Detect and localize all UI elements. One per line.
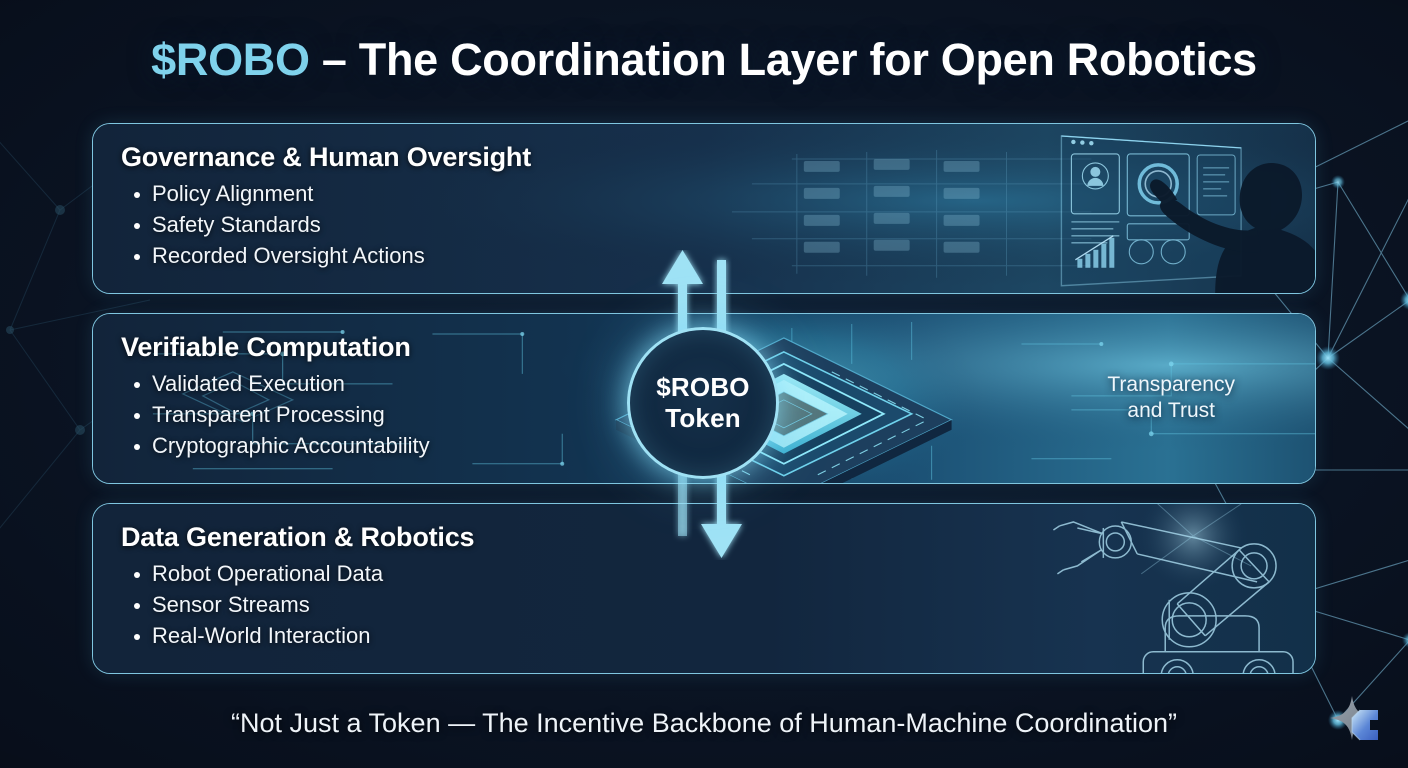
- list-item: Validated Execution: [121, 369, 430, 400]
- caption-line-1: Transparency: [1107, 372, 1235, 399]
- panel-text-verifiable-computation: Verifiable Computation Validated Executi…: [121, 332, 430, 462]
- tagline: “Not Just a Token — The Incentive Backbo…: [0, 708, 1408, 739]
- list-item: Cryptographic Accountability: [121, 431, 430, 462]
- brand-logo[interactable]: [1326, 692, 1388, 754]
- token-label-line-2: Token: [665, 403, 741, 434]
- panel-bullet-list-data-generation: Robot Operational Data Sensor Streams Re…: [121, 559, 474, 652]
- title-ticker: $ROBO: [151, 34, 310, 85]
- panel-heading-governance: Governance & Human Oversight: [121, 142, 531, 173]
- token-circle[interactable]: $ROBO Token: [627, 327, 779, 479]
- title-rest: – The Coordination Layer for Open Roboti…: [310, 34, 1257, 85]
- list-item: Sensor Streams: [121, 590, 474, 621]
- panel-bullet-list-governance: Policy Alignment Safety Standards Record…: [121, 179, 531, 272]
- transparency-and-trust-caption: Transparency and Trust: [1107, 372, 1235, 426]
- panel-heading-verifiable-computation: Verifiable Computation: [121, 332, 430, 363]
- page-title: $ROBO – The Coordination Layer for Open …: [0, 34, 1408, 86]
- panel-bullet-list-verifiable-computation: Validated Execution Transparent Processi…: [121, 369, 430, 462]
- panel-text-data-generation: Data Generation & Robotics Robot Operati…: [121, 522, 474, 652]
- list-item: Policy Alignment: [121, 179, 531, 210]
- list-item: Transparent Processing: [121, 400, 430, 431]
- list-item: Real-World Interaction: [121, 621, 474, 652]
- token-label-line-1: $ROBO: [656, 372, 749, 403]
- panel-text-governance: Governance & Human Oversight Policy Alig…: [121, 142, 531, 272]
- token-hub: $ROBO Token: [595, 250, 810, 560]
- caption-line-2: and Trust: [1107, 399, 1235, 426]
- list-item: Recorded Oversight Actions: [121, 241, 531, 272]
- panel-heading-data-generation: Data Generation & Robotics: [121, 522, 474, 553]
- list-item: Robot Operational Data: [121, 559, 474, 590]
- list-item: Safety Standards: [121, 210, 531, 241]
